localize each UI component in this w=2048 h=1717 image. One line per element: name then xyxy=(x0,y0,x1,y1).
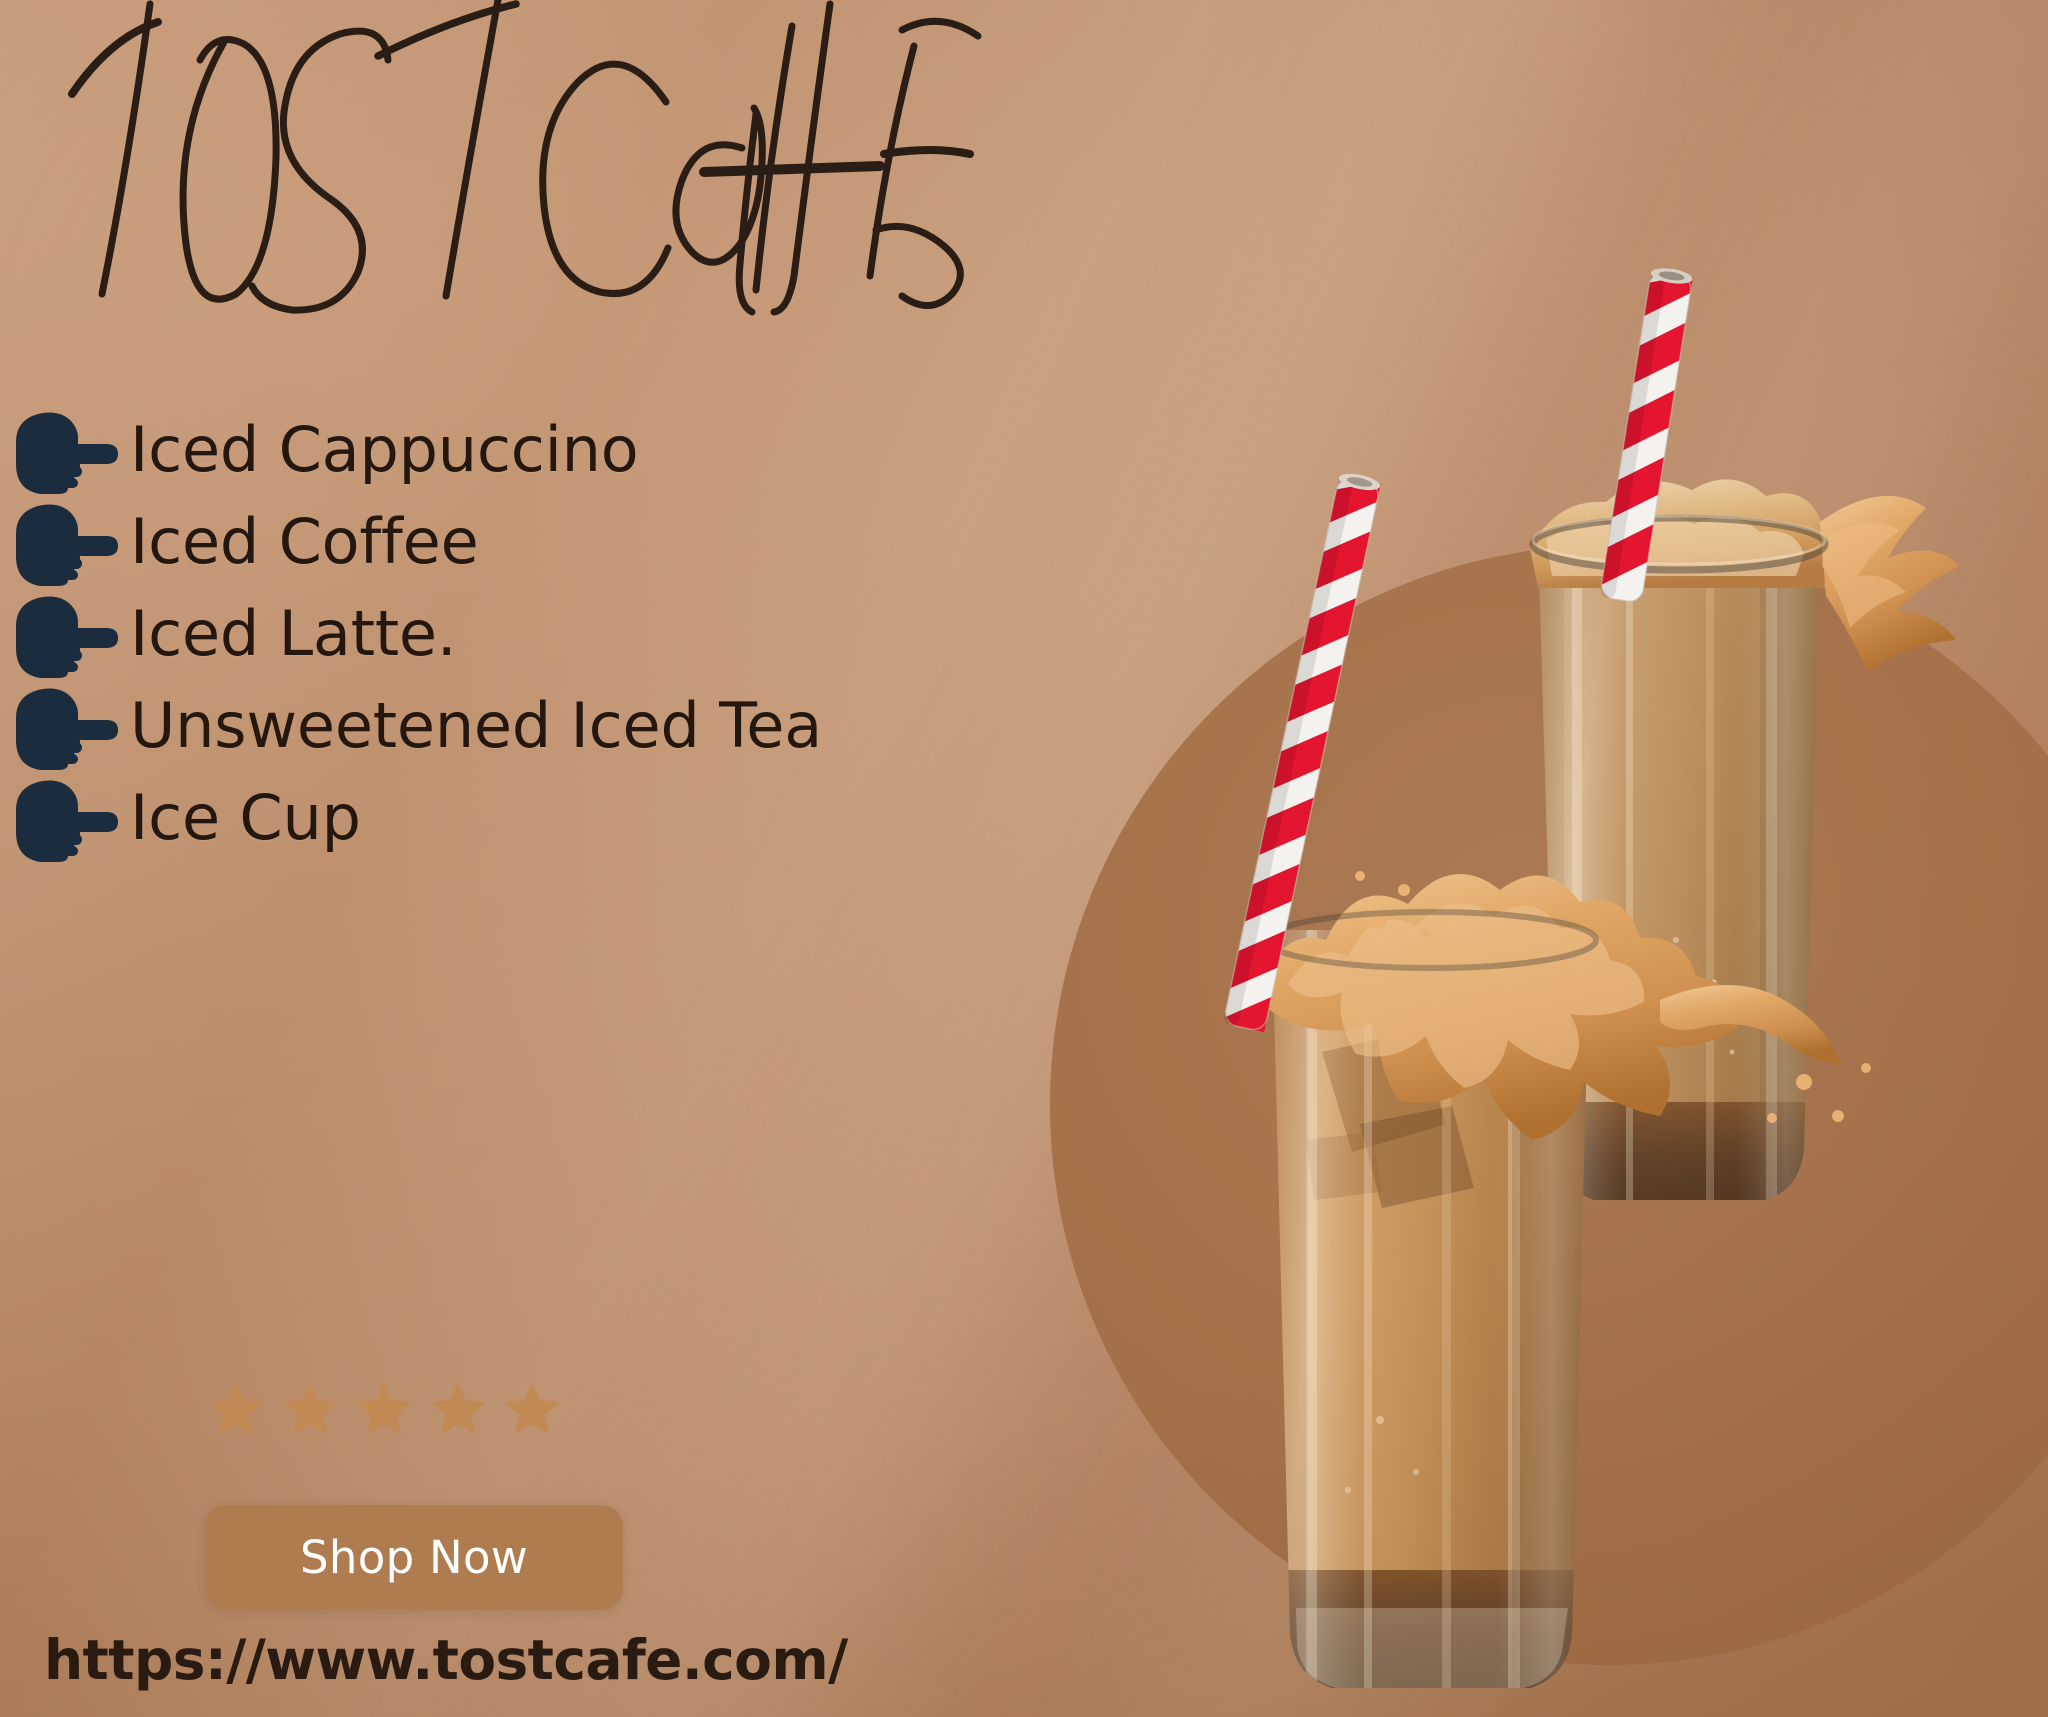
list-item[interactable]: Iced Coffee xyxy=(6,496,1266,588)
pointing-hand-right-icon xyxy=(6,772,124,864)
shop-now-button[interactable]: Shop Now xyxy=(205,1505,623,1610)
list-item-label: Unsweetened Iced Tea xyxy=(130,695,822,757)
pointing-hand-right-icon xyxy=(6,680,124,772)
promo-poster: TOST CAFE xyxy=(0,0,2048,1717)
pointing-hand-right-icon xyxy=(6,404,124,496)
star-icon xyxy=(279,1378,341,1440)
brand-title-script: TOST CAFE xyxy=(40,0,1600,324)
back-glass xyxy=(1530,479,1960,1220)
list-item[interactable]: Unsweetened Iced Tea xyxy=(6,680,1266,772)
status-badge xyxy=(205,1378,563,1440)
pointing-hand-right-icon xyxy=(6,588,124,680)
list-item-label: Iced Cappuccino xyxy=(130,419,639,481)
list-item[interactable]: Iced Cappuccino xyxy=(6,404,1266,496)
menu-list: Iced Cappuccino Iced Coffee Iced Lat xyxy=(6,404,1266,864)
list-item-label: Ice Cup xyxy=(130,787,361,849)
star-icon xyxy=(205,1378,267,1440)
star-icon xyxy=(501,1378,563,1440)
front-glass xyxy=(1258,871,1871,1717)
star-icon xyxy=(353,1378,415,1440)
star-icon xyxy=(427,1378,489,1440)
list-item-label: Iced Latte. xyxy=(130,603,456,665)
list-item[interactable]: Iced Latte. xyxy=(6,588,1266,680)
list-item[interactable]: Ice Cup xyxy=(6,772,1266,864)
page-title: TOST CAFE xyxy=(40,0,1600,324)
pointing-hand-right-icon xyxy=(6,496,124,588)
shop-now-label: Shop Now xyxy=(300,1531,528,1584)
list-item-label: Iced Coffee xyxy=(130,511,479,573)
website-url[interactable]: https://www.tostcafe.com/ xyxy=(44,1628,848,1692)
